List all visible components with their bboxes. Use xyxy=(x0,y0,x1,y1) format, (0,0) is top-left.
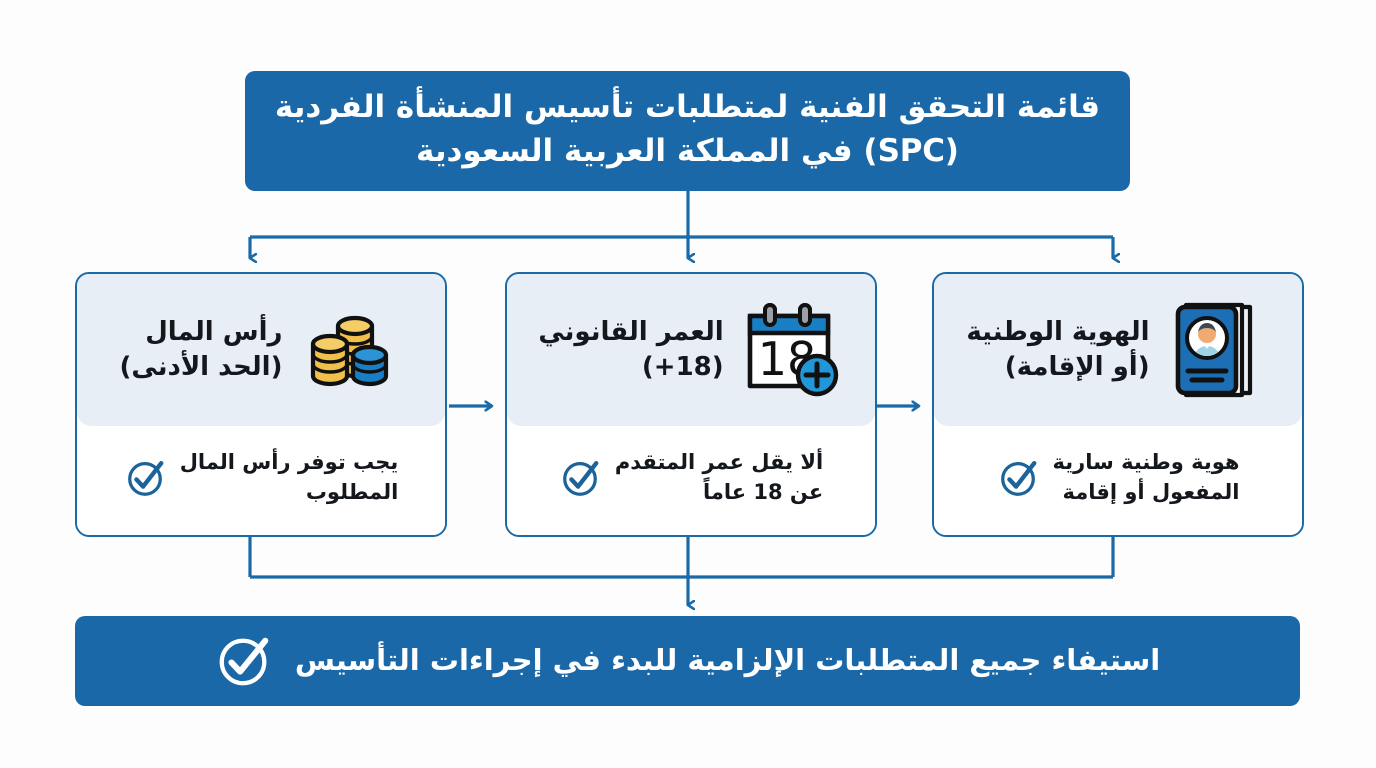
page-title-banner: قائمة التحقق الفنية لمتطلبات تأسيس المنش… xyxy=(245,71,1130,191)
card-note-national-id: هوية وطنية سارية المفعول أو إقامة xyxy=(1053,448,1240,507)
card-note-legal-age: ألا يقل عمر المتقدم عن 18 عاماً xyxy=(615,448,823,507)
card-title-capital: رأس المال (الحد الأدنى) xyxy=(120,315,283,385)
check-circle-icon xyxy=(997,457,1039,499)
card-note-capital: يجب توفر رأس المال المطلوب xyxy=(180,448,399,507)
card-body-legal-age: ألا يقل عمر المتقدم عن 18 عاماً xyxy=(507,426,875,535)
requirement-card-national-id[interactable]: الهوية الوطنية (أو الإقامة) هوية وطنية س… xyxy=(932,272,1304,537)
card-header-capital: رأس المال (الحد الأدنى) xyxy=(77,274,445,426)
infographic-canvas: قائمة التحقق الفنية لمتطلبات تأسيس المنش… xyxy=(0,0,1376,768)
page-title: قائمة التحقق الفنية لمتطلبات تأسيس المنش… xyxy=(271,85,1104,173)
calendar-18-plus-icon: 18 xyxy=(740,298,844,402)
check-circle-icon xyxy=(124,457,166,499)
card-header-legal-age: 18 العمر القانوني (18+) xyxy=(507,274,875,426)
check-circle-icon xyxy=(215,632,273,690)
footer-outcome-text: استيفاء جميع المتطلبات الإلزامية للبدء ف… xyxy=(295,642,1160,680)
card-title-legal-age: العمر القانوني (18+) xyxy=(538,315,723,385)
card-body-capital: يجب توفر رأس المال المطلوب xyxy=(77,426,445,535)
footer-outcome-banner: استيفاء جميع المتطلبات الإلزامية للبدء ف… xyxy=(75,616,1300,706)
national-id-card-icon xyxy=(1166,298,1270,402)
card-header-national-id: الهوية الوطنية (أو الإقامة) xyxy=(934,274,1302,426)
card-body-national-id: هوية وطنية سارية المفعول أو إقامة xyxy=(934,426,1302,535)
requirement-card-capital[interactable]: رأس المال (الحد الأدنى) يجب توفر رأس الم… xyxy=(75,272,447,537)
check-circle-icon xyxy=(559,457,601,499)
requirement-card-legal-age[interactable]: 18 العمر القانوني (18+) ألا يقل عمر المت… xyxy=(505,272,877,537)
card-title-national-id: الهوية الوطنية (أو الإقامة) xyxy=(966,315,1149,385)
coins-stack-icon xyxy=(298,298,402,402)
